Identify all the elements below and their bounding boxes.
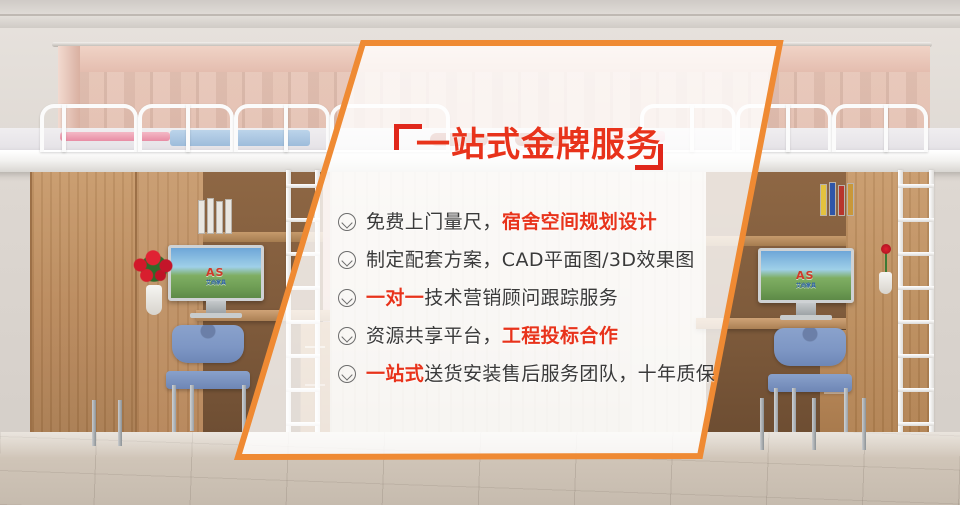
trapezoid-overlay: [0, 0, 960, 505]
banner-stage: AS艾尚家具 AS艾尚家具: [0, 0, 960, 505]
white-wash-panel: [238, 43, 780, 457]
